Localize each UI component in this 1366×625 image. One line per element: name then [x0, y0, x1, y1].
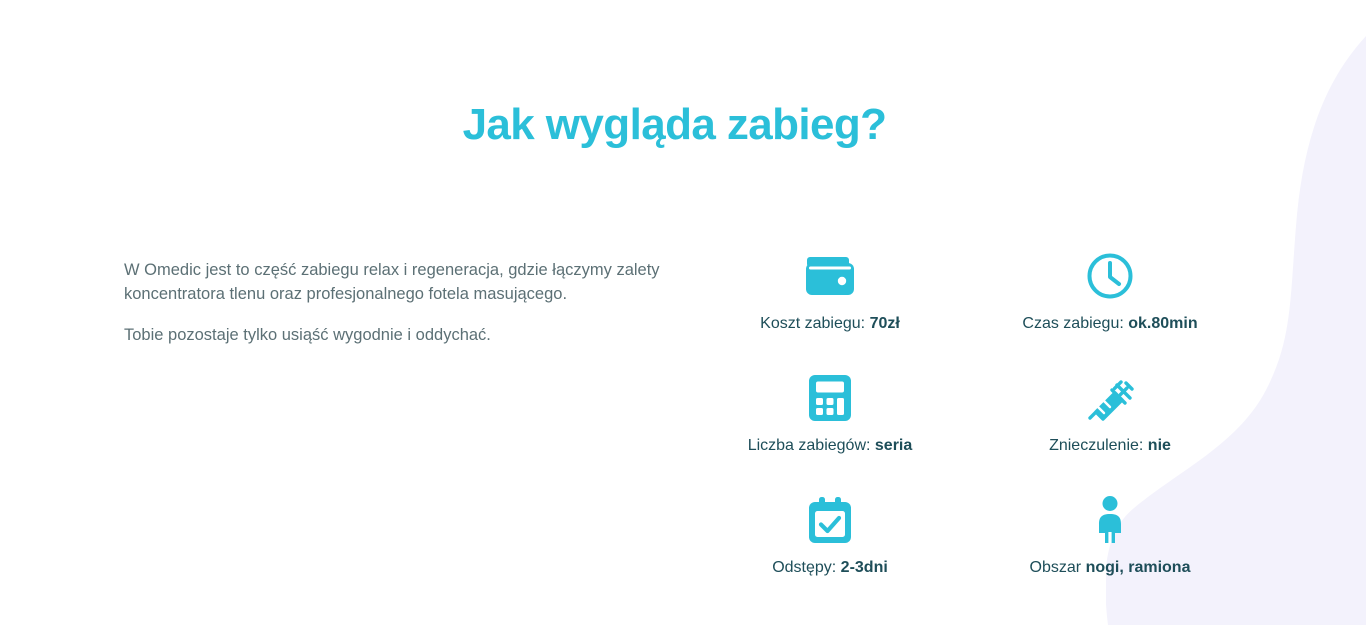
intro-paragraph-2: Tobie pozostaje tylko usiąść wygodnie i … — [124, 323, 664, 347]
detail-value-text: 2-3dni — [841, 559, 888, 576]
detail-label-text: Liczba zabiegów: — [748, 437, 871, 454]
detail-label-text: Znieczulenie: — [1049, 437, 1143, 454]
detail-value-text: seria — [875, 437, 912, 454]
detail-label-text: Obszar — [1030, 559, 1082, 576]
clock-icon — [1085, 248, 1135, 304]
wallet-icon — [804, 248, 856, 304]
intro-paragraph-1: W Omedic jest to część zabiegu relax i r… — [124, 258, 664, 306]
detail-value-text: nogi, ramiona — [1086, 559, 1191, 576]
detail-label-anesthesia: Znieczulenie: nie — [1049, 435, 1171, 457]
detail-label-cost: Koszt zabiegu: 70zł — [760, 313, 900, 335]
page-title: Jak wygląda zabieg? — [0, 96, 1349, 154]
detail-label-area: Obszar nogi, ramiona — [1030, 557, 1191, 579]
syringe-icon — [1084, 370, 1136, 426]
detail-item-intervals: Odstępy: 2-3dni — [690, 492, 970, 614]
detail-item-duration: Czas zabiegu: ok.80min — [970, 248, 1250, 370]
detail-label-intervals: Odstępy: 2-3dni — [772, 557, 888, 579]
detail-item-count: Liczba zabiegów: seria — [690, 370, 970, 492]
detail-label-duration: Czas zabiegu: ok.80min — [1022, 313, 1197, 335]
intro-copy: W Omedic jest to część zabiegu relax i r… — [124, 258, 664, 347]
detail-value-text: ok.80min — [1128, 315, 1197, 332]
detail-label-text: Koszt zabiegu: — [760, 315, 865, 332]
detail-label-text: Odstępy: — [772, 559, 836, 576]
detail-value-text: nie — [1148, 437, 1171, 454]
detail-label-count: Liczba zabiegów: seria — [748, 435, 913, 457]
detail-value-text: 70zł — [870, 315, 900, 332]
detail-label-text: Czas zabiegu: — [1022, 315, 1123, 332]
page-root: Jak wygląda zabieg? W Omedic jest to czę… — [0, 0, 1366, 625]
calculator-icon — [807, 370, 853, 426]
detail-item-anesthesia: Znieczulenie: nie — [970, 370, 1250, 492]
detail-item-cost: Koszt zabiegu: 70zł — [690, 248, 970, 370]
person-icon — [1093, 492, 1127, 548]
calendar-check-icon — [806, 492, 854, 548]
treatment-details-grid: Koszt zabiegu: 70zł Czas zabiegu: ok.80m… — [690, 248, 1250, 614]
detail-item-area: Obszar nogi, ramiona — [970, 492, 1250, 614]
